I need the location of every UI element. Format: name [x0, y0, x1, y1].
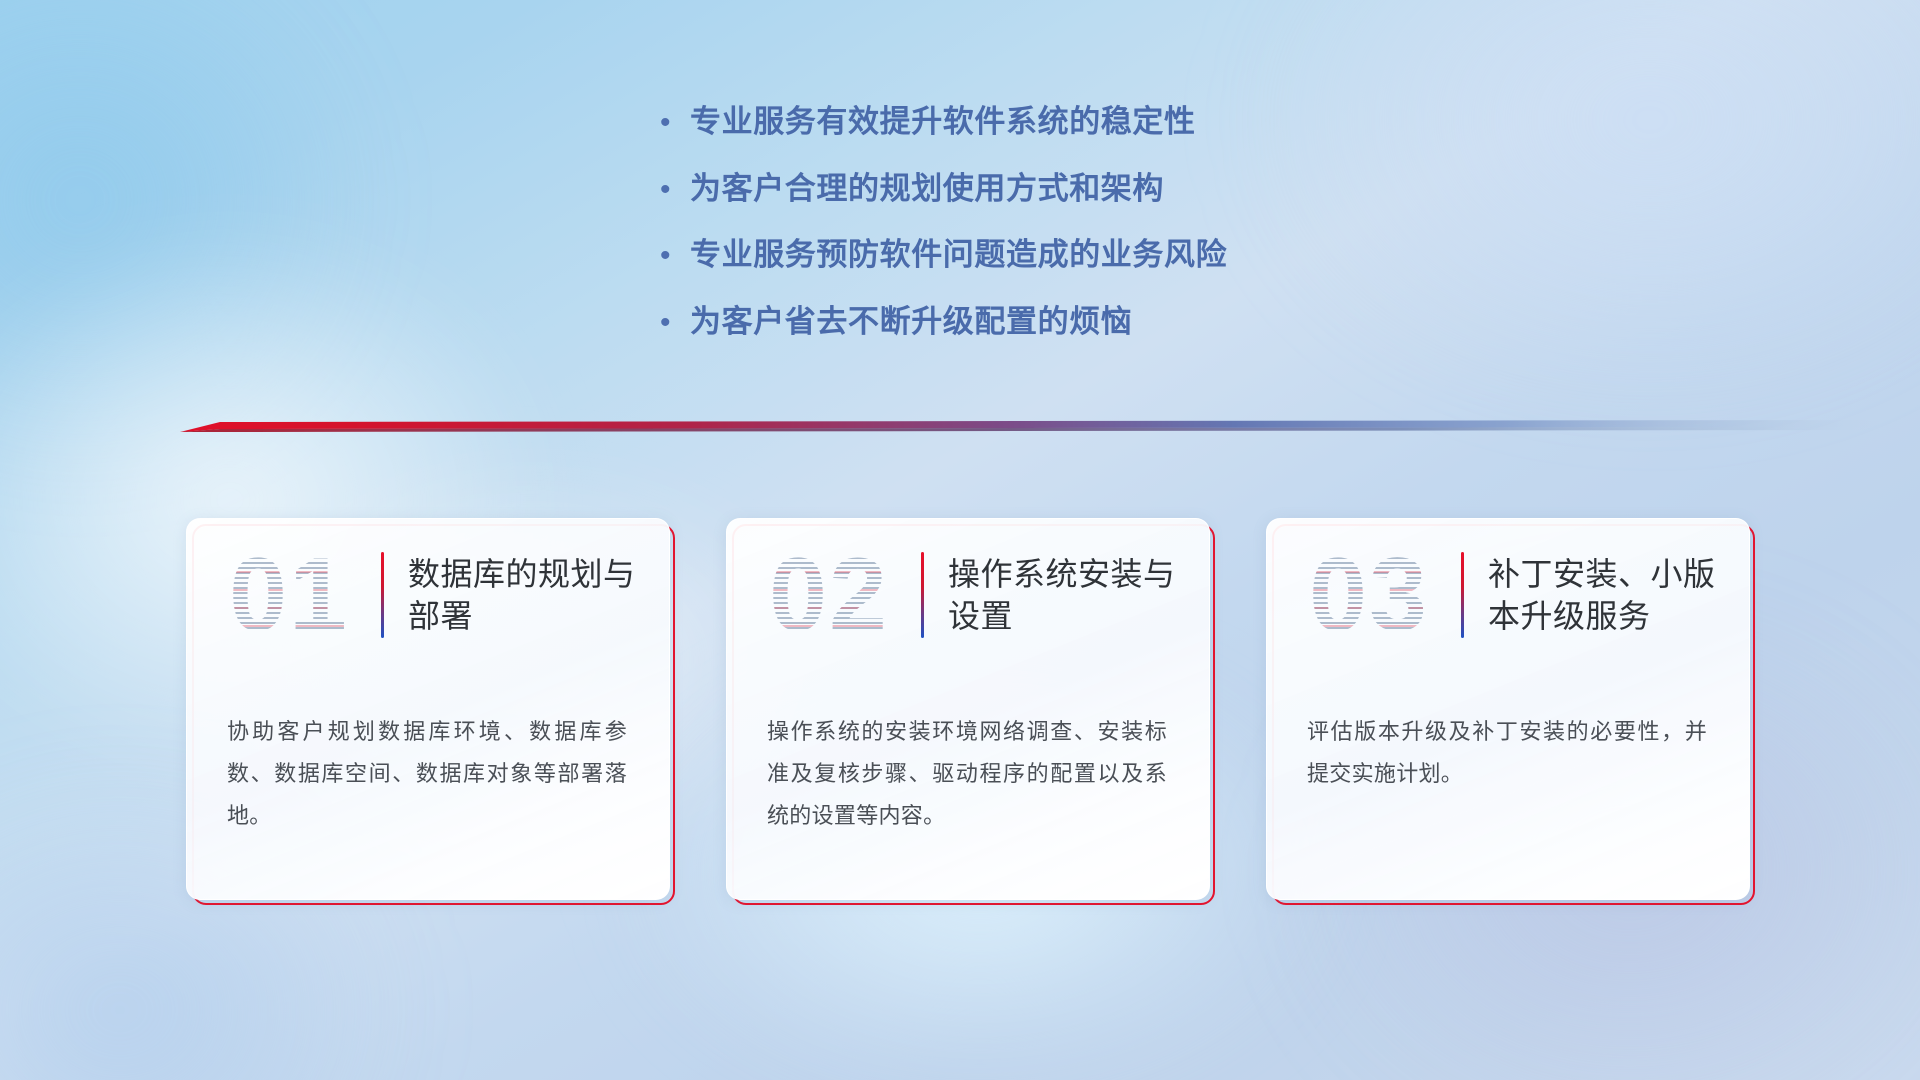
card-header: 03 03 补丁安装、小版本升级服务	[1267, 519, 1749, 671]
section-divider	[180, 410, 1880, 444]
benefits-bullet-list: • 专业服务有效提升软件系统的稳定性 • 为客户合理的规划使用方式和架构 • 专…	[660, 104, 1480, 370]
card-number-red-stripes: 02	[753, 537, 905, 653]
card-header: 02 02 操作系统安装与设置	[727, 519, 1209, 671]
bullet-dot-icon: •	[660, 241, 690, 271]
bullet-dot-icon: •	[660, 308, 690, 338]
card-description: 协助客户规划数据库环境、数据库参数、数据库空间、数据库对象等部署落地。	[187, 671, 669, 838]
card-title: 补丁安装、小版本升级服务	[1488, 553, 1725, 637]
card-description: 操作系统的安装环境网络调查、安装标准及复核步骤、驱动程序的配置以及系统的设置等内…	[727, 671, 1209, 838]
card-accent-bar	[1461, 552, 1464, 638]
card-number-watermark: 02 02	[753, 537, 905, 653]
card-accent-bar	[921, 552, 924, 638]
bullet-text: 为客户省去不断升级配置的烦恼	[690, 304, 1132, 341]
card-panel: 01 01 数据库的规划与部署 协助客户规划数据库环境、数据库参数、数据库空间、…	[186, 518, 670, 900]
card-description: 评估版本升级及补丁安装的必要性，并提交实施计划。	[1267, 671, 1749, 795]
service-card-03[interactable]: 03 03 补丁安装、小版本升级服务 评估版本升级及补丁安装的必要性，并提交实施…	[1266, 518, 1750, 900]
card-number-watermark: 03 03	[1293, 537, 1445, 653]
card-accent-bar	[381, 552, 384, 638]
bullet-text: 专业服务有效提升软件系统的稳定性	[690, 104, 1196, 141]
card-panel: 02 02 操作系统安装与设置 操作系统的安装环境网络调查、安装标准及复核步骤、…	[726, 518, 1210, 900]
card-panel: 03 03 补丁安装、小版本升级服务 评估版本升级及补丁安装的必要性，并提交实施…	[1266, 518, 1750, 900]
bullet-dot-icon: •	[660, 108, 690, 138]
bullet-text: 为客户合理的规划使用方式和架构	[690, 171, 1164, 208]
bullet-text: 专业服务预防软件问题造成的业务风险	[690, 237, 1227, 274]
card-number-red-stripes: 01	[213, 537, 365, 653]
list-item: • 为客户合理的规划使用方式和架构	[660, 171, 1480, 208]
card-title: 操作系统安装与设置	[948, 553, 1185, 637]
divider-shape-icon	[180, 410, 1880, 444]
list-item: • 专业服务有效提升软件系统的稳定性	[660, 104, 1480, 141]
slide-canvas: • 专业服务有效提升软件系统的稳定性 • 为客户合理的规划使用方式和架构 • 专…	[0, 0, 1920, 1080]
service-card-01[interactable]: 01 01 数据库的规划与部署 协助客户规划数据库环境、数据库参数、数据库空间、…	[186, 518, 670, 900]
service-card-02[interactable]: 02 02 操作系统安装与设置 操作系统的安装环境网络调查、安装标准及复核步骤、…	[726, 518, 1210, 900]
list-item: • 专业服务预防软件问题造成的业务风险	[660, 237, 1480, 274]
card-header: 01 01 数据库的规划与部署	[187, 519, 669, 671]
background-glow-top-left	[0, 0, 480, 580]
card-title: 数据库的规划与部署	[408, 553, 645, 637]
list-item: • 为客户省去不断升级配置的烦恼	[660, 304, 1480, 341]
card-number-watermark: 01 01	[213, 537, 365, 653]
bullet-dot-icon: •	[660, 175, 690, 205]
card-number-red-stripes: 03	[1293, 537, 1445, 653]
service-card-row: 01 01 数据库的规划与部署 协助客户规划数据库环境、数据库参数、数据库空间、…	[186, 518, 1786, 910]
